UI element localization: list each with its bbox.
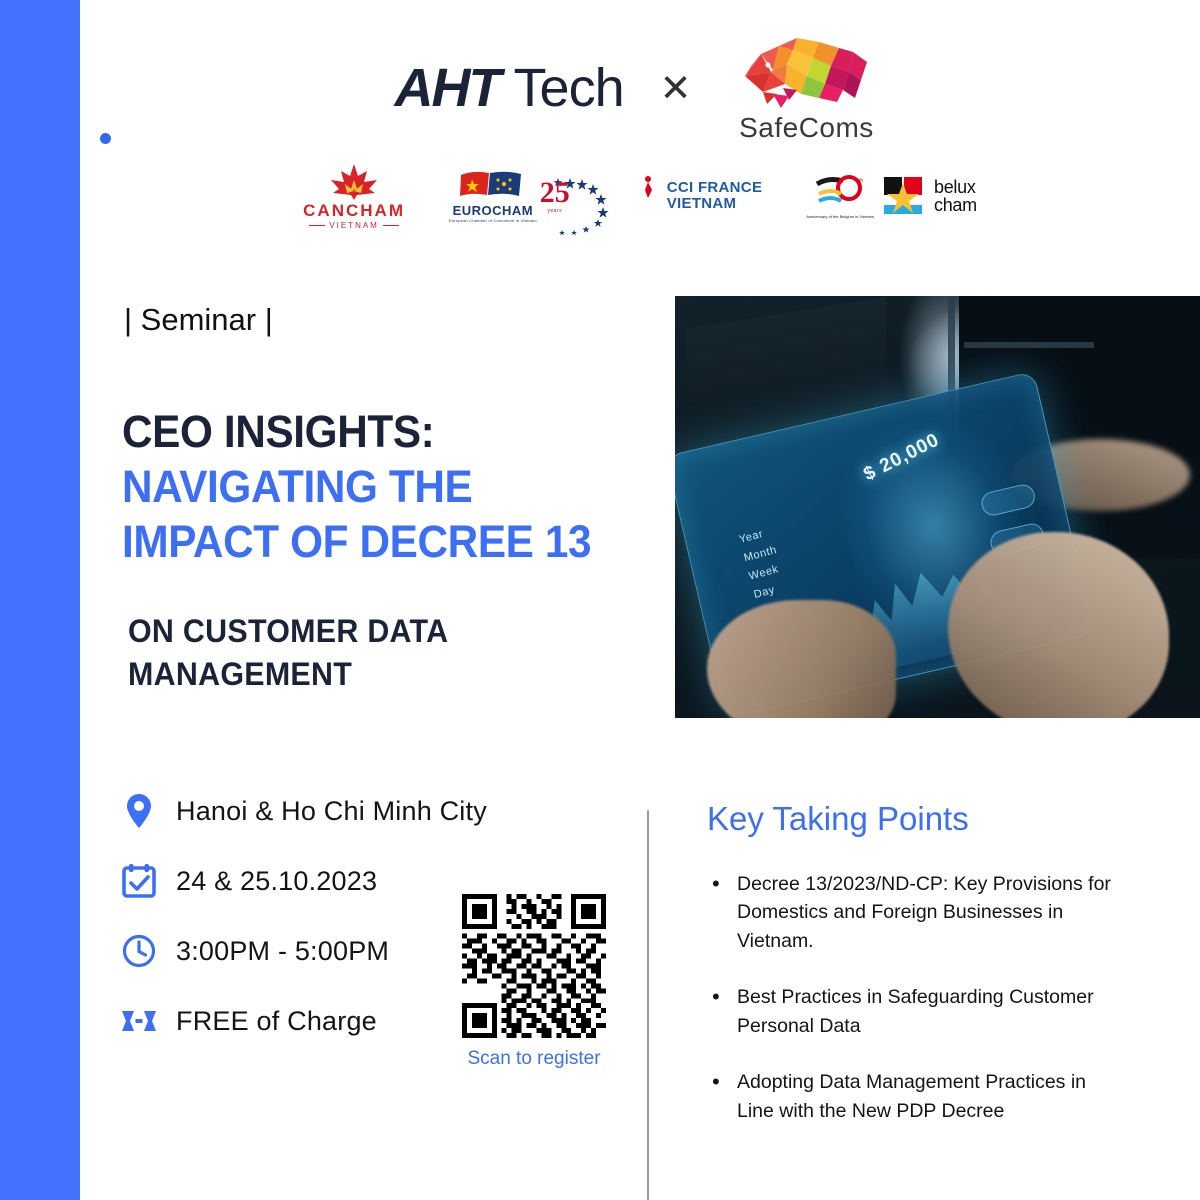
key-points-list: Decree 13/2023/ND-CP: Key Provisions for… xyxy=(707,870,1127,1125)
safecoms-name: SafeComs xyxy=(739,112,874,144)
belux-text-block: belux cham xyxy=(934,178,977,214)
detail-time: 3:00PM - 5:00PM xyxy=(120,932,487,970)
cancham-sub: VIETNAM xyxy=(309,221,399,230)
partner-cancham-logo: CANCHAM VIETNAM xyxy=(303,158,405,234)
subtitle-line-2: MANAGEMENT xyxy=(128,653,660,696)
aht-tech-logo: AHT Tech xyxy=(395,57,624,119)
eurocham-years-label: years xyxy=(547,208,562,214)
tablet-menu-day: Day xyxy=(752,581,788,601)
belgium-anniversary-icon: th xyxy=(813,174,867,214)
partner-eurocham-logo: EUROCHAM European Chamber of Commerce in… xyxy=(449,158,570,234)
calendar-check-icon xyxy=(120,862,158,900)
aht-wordmark: AHT xyxy=(395,57,500,119)
tablet-menu: Year Month Week Day xyxy=(737,526,787,601)
partner-ccifrance-logo: CCI FRANCE VIETNAM xyxy=(614,158,763,234)
list-item: Decree 13/2023/ND-CP: Key Provisions for… xyxy=(707,870,1127,955)
key-points-section: Key Taking Points Decree 13/2023/ND-CP: … xyxy=(707,800,1127,1125)
title-line-2: NAVIGATING THE xyxy=(122,460,648,515)
title-line-1: CEO INSIGHTS: xyxy=(122,405,648,460)
cci-vietnam-name: VIETNAM xyxy=(667,196,763,212)
partner-logos-row: CANCHAM VIETNAM EUROCHAM European Chambe… xyxy=(80,155,1200,237)
qr-caption[interactable]: Scan to register xyxy=(467,1048,600,1070)
rhino-icon xyxy=(727,32,885,110)
belgium-flag-star-icon xyxy=(882,175,926,217)
key-points-title: Key Taking Points xyxy=(707,800,1127,838)
aht-blue-dot-icon xyxy=(100,133,111,144)
logo-header: AHT Tech ✕ xyxy=(80,28,1200,148)
page-title: CEO INSIGHTS: NAVIGATING THE IMPACT OF D… xyxy=(122,405,682,570)
detail-date-text: 24 & 25.10.2023 xyxy=(176,866,377,897)
svg-text:th: th xyxy=(859,178,863,184)
detail-date: 24 & 25.10.2023 xyxy=(120,862,487,900)
eurocham-tagline: European Chamber of Commerce in Vietnam xyxy=(449,218,537,223)
maple-leaf-icon xyxy=(323,162,385,202)
partner-beluxcham-logo: th Anniversary of the Belgium in Vietnam… xyxy=(806,158,977,234)
list-item: Adopting Data Management Practices in Li… xyxy=(707,1068,1127,1125)
seminar-tag: | Seminar | xyxy=(124,302,273,338)
tablet-menu-month: Month xyxy=(742,544,778,564)
belux-anniversary-mark: th Anniversary of the Belgium in Vietnam xyxy=(806,174,874,219)
eurocham-anniversary: 25 years xyxy=(540,178,570,214)
belux-cham-name: cham xyxy=(934,196,977,214)
detail-fee: FREE of Charge xyxy=(120,1002,487,1040)
eu-vietnam-flags-icon xyxy=(459,169,527,203)
hand-holding-tablet xyxy=(707,600,896,718)
logo-separator-x-icon: ✕ xyxy=(660,66,692,111)
cci-text-block: CCI FRANCE VIETNAM xyxy=(667,180,763,212)
page-subtitle: ON CUSTOMER DATA MANAGEMENT xyxy=(128,610,688,696)
eurocham-name: EUROCHAM xyxy=(453,203,534,218)
location-pin-icon xyxy=(120,792,158,830)
ticket-icon xyxy=(120,1002,158,1040)
detail-location-text: Hanoi & Ho Chi Minh City xyxy=(176,796,487,827)
detail-location: Hanoi & Ho Chi Minh City xyxy=(120,792,487,830)
event-details: Hanoi & Ho Chi Minh City 24 & 25.10.2023… xyxy=(120,792,487,1040)
window-frame-horizontal xyxy=(964,342,1094,348)
detail-time-text: 3:00PM - 5:00PM xyxy=(176,936,389,967)
aht-tech-word: Tech xyxy=(514,57,624,119)
hero-photo: Year Month Week Day $ 20,000 xyxy=(675,296,1200,718)
cancham-name: CANCHAM xyxy=(303,202,405,221)
qr-code-icon[interactable] xyxy=(462,893,606,1039)
safecoms-logo: SafeComs xyxy=(727,32,885,144)
qr-register-block[interactable]: Scan to register xyxy=(462,893,606,1070)
title-line-3: IMPACT OF DECREE 13 xyxy=(122,515,648,570)
subtitle-line-1: ON CUSTOMER DATA xyxy=(128,610,660,653)
clock-icon xyxy=(120,932,158,970)
list-item: Best Practices in Safeguarding Customer … xyxy=(707,983,1127,1040)
detail-fee-text: FREE of Charge xyxy=(176,1006,377,1037)
eurocham-left: EUROCHAM European Chamber of Commerce in… xyxy=(449,169,537,223)
eurocham-25: 25 xyxy=(540,178,570,208)
tablet-menu-year: Year xyxy=(737,526,773,546)
belux-name: belux xyxy=(934,178,977,196)
belux-anniversary-sub: Anniversary of the Belgium in Vietnam xyxy=(806,214,874,219)
cci-france-name: CCI FRANCE xyxy=(667,180,763,196)
vertical-divider xyxy=(647,810,649,1200)
left-accent-bar xyxy=(0,0,80,1200)
cci-monogram-icon xyxy=(614,174,660,218)
tablet-menu-week: Week xyxy=(747,563,783,583)
